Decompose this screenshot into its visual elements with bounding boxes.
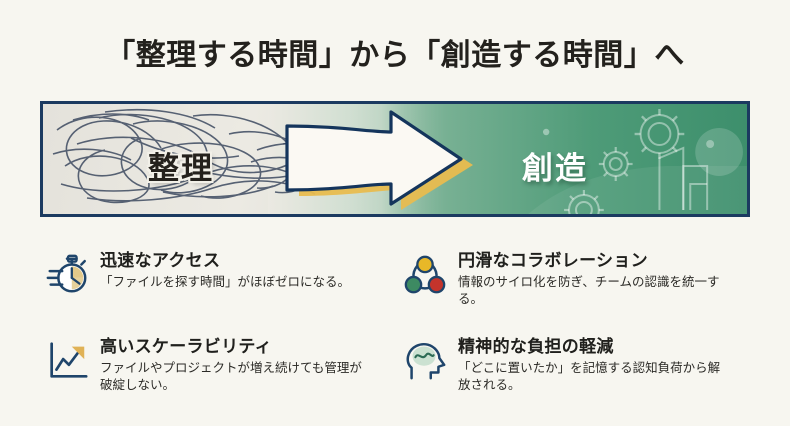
benefit-text-block: 円滑なコラボレーション 情報のサイロ化を防ぎ、チームの認識を統一する。 [458, 248, 726, 308]
benefit-text-block: 迅速なアクセス 「ファイルを探す時間」がほぼゼロになる。 [100, 248, 350, 291]
benefits-grid: 迅速なアクセス 「ファイルを探す時間」がほぼゼロになる。 円滑なコラボレーション… [44, 248, 754, 418]
benefit-title: 円滑なコラボレーション [458, 250, 726, 271]
benefit-item-collaboration: 円滑なコラボレーション 情報のサイロ化を防ぎ、チームの認識を統一する。 [402, 248, 754, 334]
growth-chart-icon [44, 338, 90, 384]
benefit-item-scalability: 高いスケーラビリティ ファイルやプロジェクトが増え続けても管理が破綻しない。 [44, 334, 402, 420]
benefit-title: 精神的な負担の軽減 [458, 336, 726, 357]
slide-root: 「整理する時間」から「創造する時間」へ [0, 0, 790, 426]
benefit-description: 「どこに置いたか」を記憶する認知負荷から解放される。 [458, 360, 726, 394]
stopwatch-icon [44, 252, 90, 298]
page-title: 「整理する時間」から「創造する時間」へ [0, 30, 790, 74]
benefit-text-block: 高いスケーラビリティ ファイルやプロジェクトが増え続けても管理が破綻しない。 [100, 334, 368, 394]
dot-icon [543, 129, 549, 135]
collaboration-icon [402, 252, 448, 298]
banner-left-label: 整理 [148, 143, 214, 188]
benefit-title: 高いスケーラビリティ [100, 336, 368, 357]
head-brain-icon [402, 338, 448, 384]
benefit-description: ファイルやプロジェクトが増え続けても管理が破綻しない。 [100, 360, 368, 394]
banner-right-label: 創造 [522, 143, 588, 188]
transformation-banner [40, 101, 750, 217]
benefit-item-mental-load: 精神的な負担の軽減 「どこに置いたか」を記憶する認知負荷から解放される。 [402, 334, 754, 420]
benefit-title: 迅速なアクセス [100, 250, 350, 271]
benefit-description: 情報のサイロ化を防ぎ、チームの認識を統一する。 [458, 274, 726, 308]
benefit-item-fast-access: 迅速なアクセス 「ファイルを探す時間」がほぼゼロになる。 [44, 248, 402, 334]
benefit-text-block: 精神的な負担の軽減 「どこに置いたか」を記憶する認知負荷から解放される。 [458, 334, 726, 394]
benefit-description: 「ファイルを探す時間」がほぼゼロになる。 [100, 274, 350, 291]
